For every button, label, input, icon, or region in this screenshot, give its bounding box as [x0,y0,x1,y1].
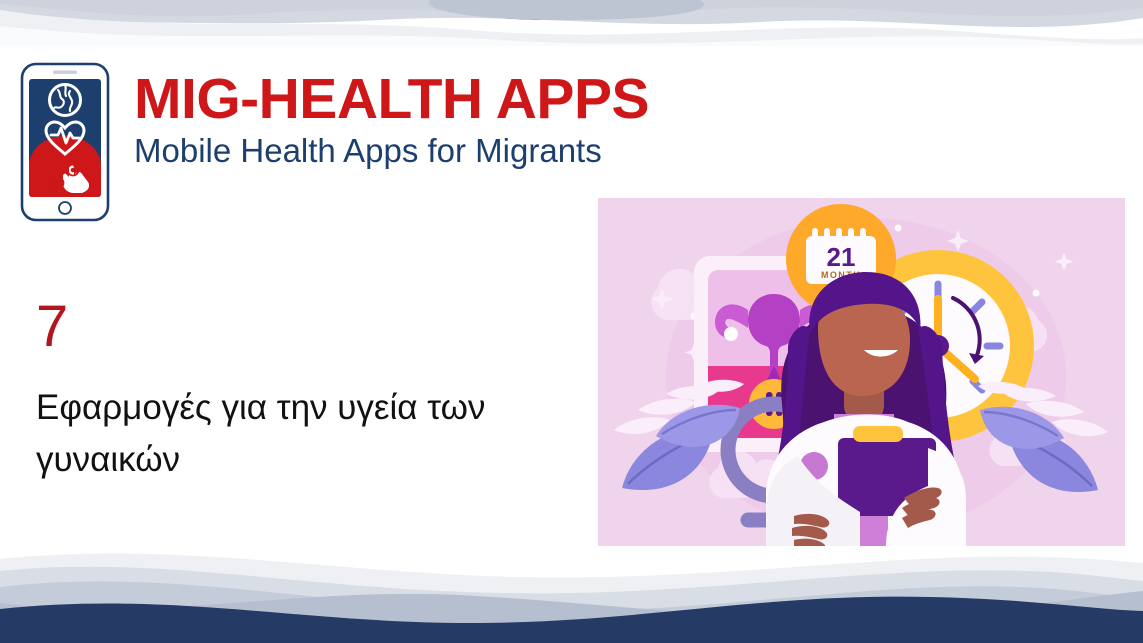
slide-canvas: MIG-HEALTH APPS Mobile Health Apps for M… [0,0,1143,643]
smartphone-health-logo-icon [20,62,110,222]
wave-bottom-decoration [0,547,1143,643]
section-copy-block: 7 Εφαρμογές για την υγεία των γυναικών [36,298,556,486]
brand-logo-row: MIG-HEALTH APPS Mobile Health Apps for M… [20,62,649,222]
calendar-day-number: 21 [827,242,856,272]
brand-subtitle: Mobile Health Apps for Migrants [134,134,649,169]
brand-text: MIG-HEALTH APPS Mobile Health Apps for M… [134,62,649,169]
brand-title: MIG-HEALTH APPS [134,70,649,128]
womens-health-illustration: 21 MONTH [598,198,1125,546]
section-heading: Εφαρμογές για την υγεία των γυναικών [36,382,556,486]
section-number: 7 [36,298,556,356]
wave-top-decoration [0,0,1143,46]
